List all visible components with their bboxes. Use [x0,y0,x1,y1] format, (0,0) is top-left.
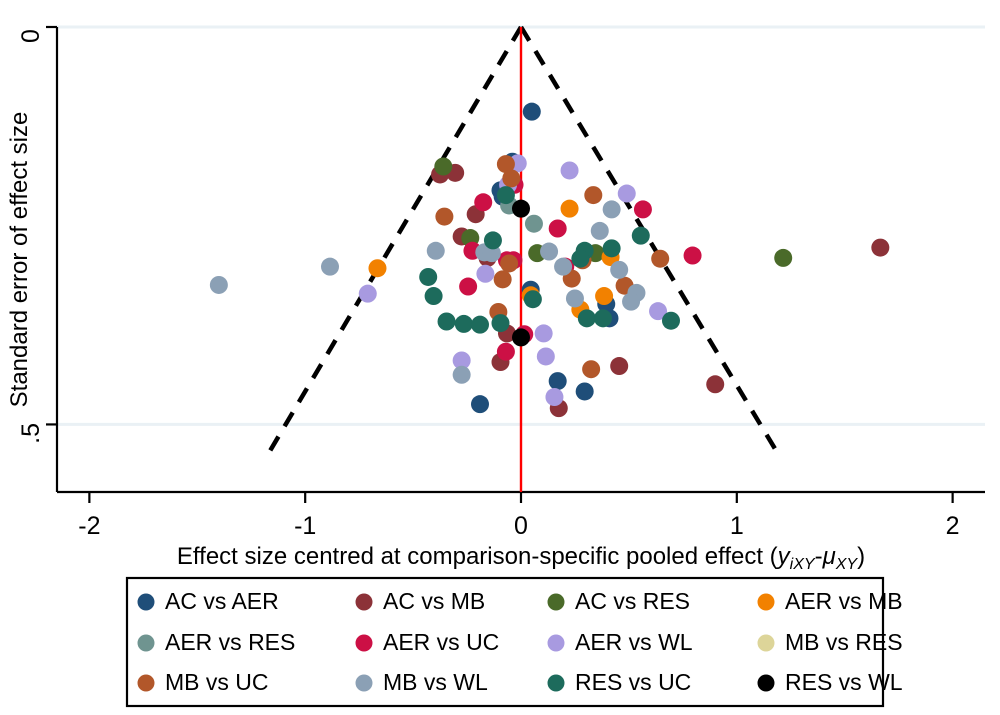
data-point [435,208,453,226]
data-point [425,287,443,305]
data-point [492,314,510,332]
data-point [535,324,553,342]
pseudo-confidence-limit-lines [266,27,780,457]
data-point [774,249,792,267]
legend-item-label: AER vs RES [165,629,295,655]
legend-marker-icon [758,594,775,611]
legend-marker-icon [356,635,373,652]
data-point [471,395,489,413]
data-point [871,239,889,257]
legend-marker-icon [758,675,775,692]
data-point [651,250,669,268]
data-point [603,200,621,218]
legend-item-label: AER vs MB [785,588,903,614]
legend-item-label: MB vs WL [383,669,488,695]
data-point [525,215,543,233]
data-point [610,357,628,375]
data-point [359,285,377,303]
data-point [471,316,489,334]
data-point [459,278,477,296]
data-point [524,290,542,308]
data-point [554,258,572,276]
data-point [502,169,520,187]
legend-marker-icon [548,675,565,692]
legend-item-label: RES vs WL [785,669,903,695]
x-tick-label: 2 [946,512,960,540]
data-point [497,343,515,361]
x-tick-label: 0 [514,512,528,540]
legend-marker-icon [758,635,775,652]
data-point [210,276,228,294]
data-point [484,231,502,249]
legend-item-label: MB vs UC [165,669,269,695]
data-point [632,227,650,245]
data-point [584,186,602,204]
data-point [594,309,612,327]
data-point [427,242,445,260]
data-point [578,309,596,327]
data-point [321,258,339,276]
data-point [494,270,512,288]
data-point [540,243,558,261]
data-point [512,328,530,346]
data-point [537,347,555,365]
funnel-plot-svg: -2-10120.5Standard error of effect sizeE… [0,0,1000,715]
data-point [419,268,437,286]
data-point [474,193,492,211]
data-points [210,103,889,417]
y-tick-label: 0 [17,29,45,43]
data-point [582,360,600,378]
data-point [523,103,541,121]
data-point [591,222,609,240]
data-point [500,254,518,272]
data-point [549,220,567,238]
data-point [610,261,628,279]
data-point [684,247,702,265]
legend-marker-icon [138,635,155,652]
x-tick-label: -2 [78,512,100,540]
data-point [603,239,621,257]
legend[interactable]: AC vs AERAC vs MBAC vs RESAER vs MBAER v… [127,578,903,706]
data-point [561,200,579,218]
data-point [453,366,471,384]
legend-item-label: AC vs MB [383,588,485,614]
data-point [618,185,636,203]
legend-marker-icon [138,675,155,692]
data-point [476,265,494,283]
legend-item-label: AER vs UC [383,629,499,655]
data-point [434,158,452,176]
y-axis-title: Standard error of effect size [6,112,33,408]
y-tick-label: .5 [17,423,45,444]
data-point [662,312,680,330]
data-point [438,313,456,331]
data-point [571,250,589,268]
legend-marker-icon [138,594,155,611]
funnel-plot-figure: -2-10120.5Standard error of effect sizeE… [0,0,1000,715]
data-point [634,200,652,218]
legend-marker-icon [548,635,565,652]
legend-item-label: AC vs RES [575,588,690,614]
x-axis-title: Effect size centred at comparison-specif… [177,543,865,573]
data-point [566,289,584,307]
data-point [561,161,579,179]
legend-item-label: AC vs AER [165,588,279,614]
x-tick-label: 1 [730,512,744,540]
data-point [576,382,594,400]
legend-item-label: MB vs RES [785,629,903,655]
data-point [497,186,515,204]
legend-marker-icon [548,594,565,611]
legend-item-label: AER vs WL [575,629,693,655]
data-point [549,372,567,390]
data-point [545,388,563,406]
legend-marker-icon [356,594,373,611]
legend-item-label: RES vs UC [575,669,691,695]
data-point [706,375,724,393]
data-point [455,315,473,333]
data-point [512,200,530,218]
data-point [595,287,613,305]
data-point [368,259,386,277]
funnel-limit-left [266,27,521,457]
data-point [622,293,640,311]
x-tick-label: -1 [294,512,316,540]
legend-marker-icon [356,675,373,692]
